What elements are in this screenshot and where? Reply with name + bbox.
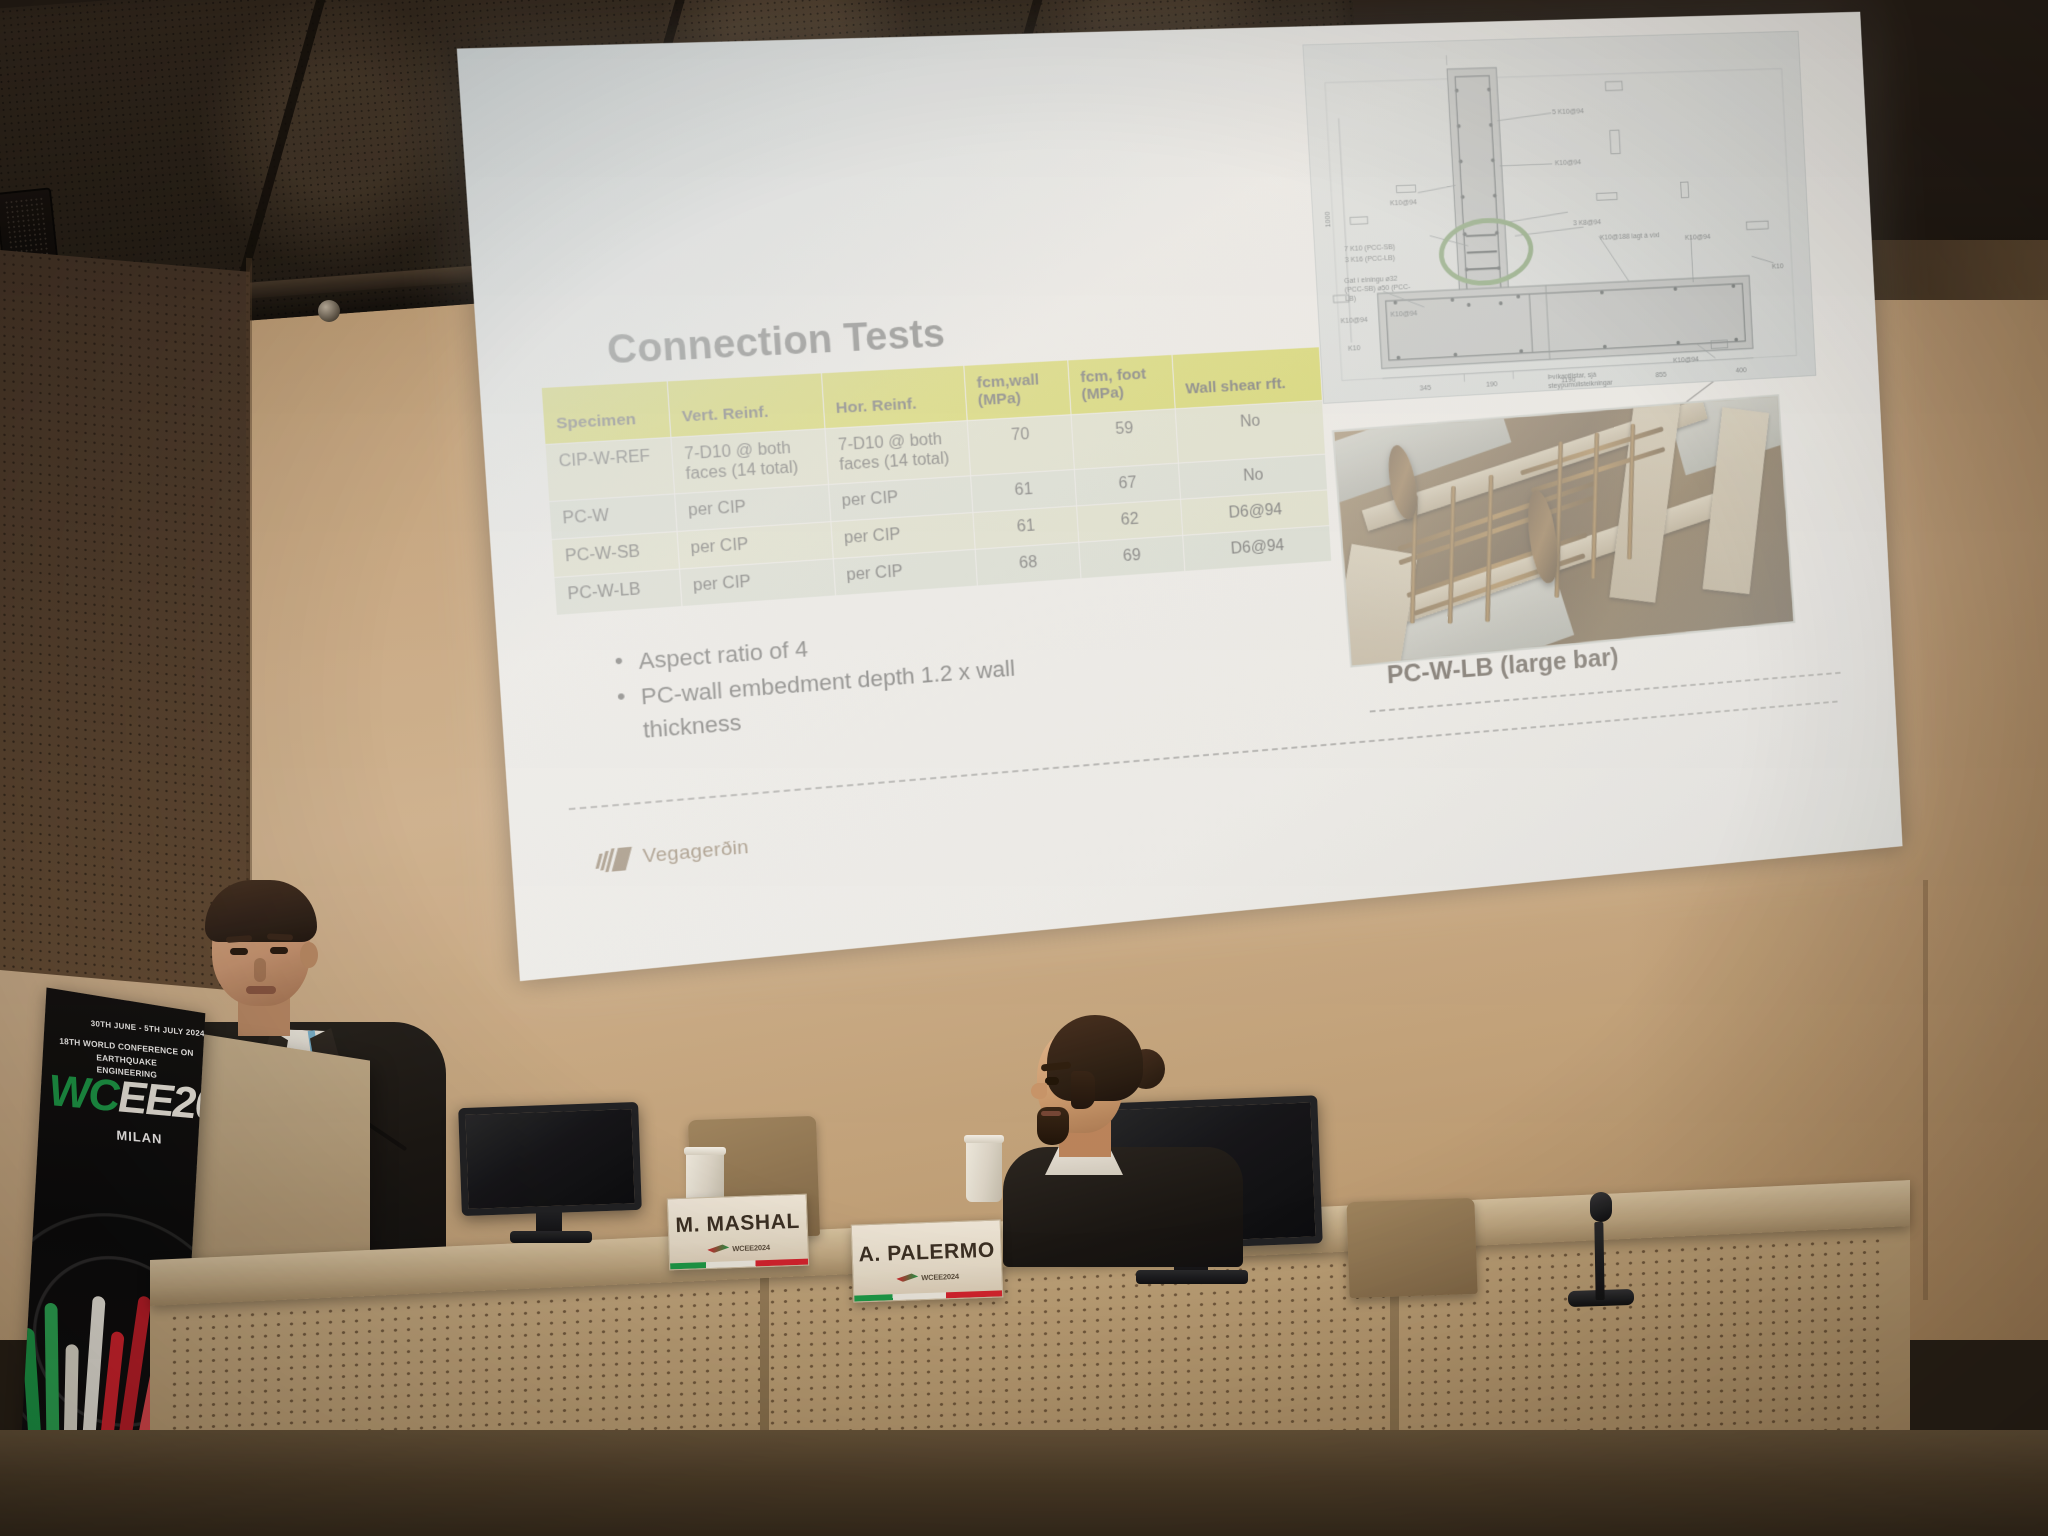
connection-tests-table: Specimen Vert. Reinf. Hor. Reinf. fcm,wa… [541, 346, 1333, 616]
drawing-label: K10@94 [1555, 157, 1582, 167]
column-header-specimen: Specimen [541, 381, 671, 444]
paper-cup-right [966, 1140, 1002, 1202]
presentation-slide: Connection Tests Specimen Vert. Reinf. H… [457, 12, 1903, 981]
drawing-dimension: 400 [1735, 365, 1746, 374]
banner-logo-e1: E [118, 1072, 146, 1124]
cell-specimen: CIP-W-REF [545, 437, 675, 502]
wcee-swoosh-icon [707, 1244, 729, 1253]
vegagerdin-logo-icon [597, 847, 635, 873]
drawing-label: K10@94 [1390, 197, 1417, 207]
lecture-hall-photo: Connection Tests Specimen Vert. Reinf. H… [0, 0, 2048, 1536]
nameplate-logo: WCEE2024 [896, 1271, 959, 1282]
wcee-swoosh-icon [896, 1273, 918, 1282]
fcm-foot-line2: (MPa) [1081, 384, 1124, 404]
drawing-dimension: 1000 [1322, 211, 1332, 227]
cell-fcm-wall: 70 [967, 414, 1074, 476]
nameplate-palermo: A. PALERMO WCEE2024 [851, 1219, 1004, 1302]
projection-screen-area: Connection Tests Specimen Vert. Reinf. H… [520, 30, 1990, 960]
moderator-mouth [1041, 1111, 1061, 1116]
moderator-eye [1045, 1077, 1059, 1085]
moderator-jacket [1003, 1147, 1243, 1267]
banner-city: MILAN [116, 1127, 162, 1146]
fcm-wall-line2: (MPa) [977, 390, 1021, 410]
cell-fcm-foot: 69 [1079, 536, 1185, 579]
moderator-hair [1047, 1015, 1143, 1101]
banner-logo-w: W [49, 1066, 89, 1119]
nameplate-mashal: M. MASHAL WCEE2024 [667, 1194, 809, 1271]
drawing-dimension: 345 [1419, 383, 1431, 393]
drawing-label: K10@94 [1685, 232, 1711, 242]
nameplate-logo-text: WCEE2024 [732, 1242, 770, 1252]
slide-title: Connection Tests [606, 312, 947, 374]
drawing-label: K10 [1348, 343, 1361, 353]
column-header-vert-reinf: Vert. Reinf. [667, 373, 825, 437]
cell-vert-reinf: 7-D10 @ both faces (14 total) [671, 428, 829, 494]
drawing-vectors [1303, 32, 1815, 404]
fcm-foot-line1: fcm, foot [1080, 365, 1147, 386]
cup-lid [684, 1147, 726, 1155]
nameplate-name: A. PALERMO [858, 1238, 995, 1267]
monitor-left-foot [510, 1231, 592, 1243]
reinforcement-detail-drawing: 5 K10@94 K10@94 K10@94 3 K8@94 7 K10 (PC… [1302, 31, 1816, 404]
presenter-hair [205, 880, 317, 942]
fcm-wall-line1: fcm,wall [976, 371, 1039, 392]
specimen-formwork-photo [1332, 394, 1795, 667]
table-microphone-head-icon [1590, 1192, 1612, 1222]
slide-footer-logo: Vegagerðin [597, 837, 750, 873]
slide-logo-text: Vegagerðin [642, 837, 749, 869]
drawing-label: K10@94 [1390, 308, 1417, 318]
column-header-hor-reinf: Hor. Reinf. [821, 365, 967, 428]
column-header-fcm-wall: fcm,wall (MPa) [964, 360, 1071, 420]
monitor-left-screen [458, 1102, 642, 1216]
drawing-label: 3 K8@94 [1573, 217, 1601, 227]
drawing-label: Gat í einingu ø32 (PCC-SB) ø50 (PCC-LB) [1344, 273, 1413, 303]
nameplate-name: M. MASHAL [675, 1209, 800, 1237]
column-header-fcm-foot: fcm, foot (MPa) [1068, 354, 1175, 414]
screen-surface: Connection Tests Specimen Vert. Reinf. H… [457, 12, 1903, 981]
drawing-dimension: 855 [1655, 370, 1666, 379]
nameplate-logo-text: WCEE2024 [921, 1271, 959, 1281]
drawing-label: K10@94 [1340, 315, 1368, 325]
moderator-nose [1031, 1083, 1047, 1099]
drawing-dimension: 190 [1486, 379, 1498, 388]
cup-lid [964, 1135, 1004, 1143]
nameplate-logo: WCEE2024 [707, 1242, 770, 1253]
moderator-seated [985, 1015, 1265, 1245]
moderator-sideburn [1071, 1071, 1095, 1109]
drawing-label: K10 [1772, 261, 1784, 270]
presenter-eyebrow-right [267, 933, 293, 940]
presenter-nose [254, 958, 266, 982]
cell-fcm-wall: 68 [975, 543, 1081, 587]
drawing-dimension: 1190 [1561, 375, 1576, 385]
banner-logo-c: C [88, 1069, 118, 1121]
presenter-eye-left [230, 948, 248, 955]
banner-date: 30TH JUNE - 5TH JULY 2024 [91, 1019, 205, 1038]
presenter-ear [300, 942, 318, 968]
dome-camera-icon [318, 300, 340, 322]
floor [0, 1430, 2048, 1536]
column-header-wall-shear: Wall shear rft. [1172, 347, 1322, 409]
slide-bullet-list: Aspect ratio of 4 PC-wall embedment dept… [607, 614, 1063, 751]
projection-screen: Connection Tests Specimen Vert. Reinf. H… [457, 10, 1957, 1033]
drawing-label: K10@94 [1673, 354, 1699, 364]
presenter-mouth [246, 986, 276, 994]
cell-wall-shear: No [1175, 400, 1325, 463]
presenter-eye-right [270, 947, 288, 954]
monitor-right-foot [1136, 1270, 1248, 1284]
chair-right [1346, 1198, 1477, 1298]
cell-hor-reinf: 7-D10 @ both faces (14 total) [825, 420, 971, 485]
banner-conf-line-1: 18TH WORLD CONFERENCE ON EARTHQUAKE [59, 1036, 193, 1068]
drawing-label: 5 K10@94 [1552, 106, 1584, 116]
cell-specimen: PC-W-LB [554, 569, 682, 615]
cell-fcm-foot: 59 [1071, 409, 1178, 470]
table-microphone-stand [1594, 1222, 1604, 1300]
banner-logo-e2: E [145, 1075, 173, 1127]
